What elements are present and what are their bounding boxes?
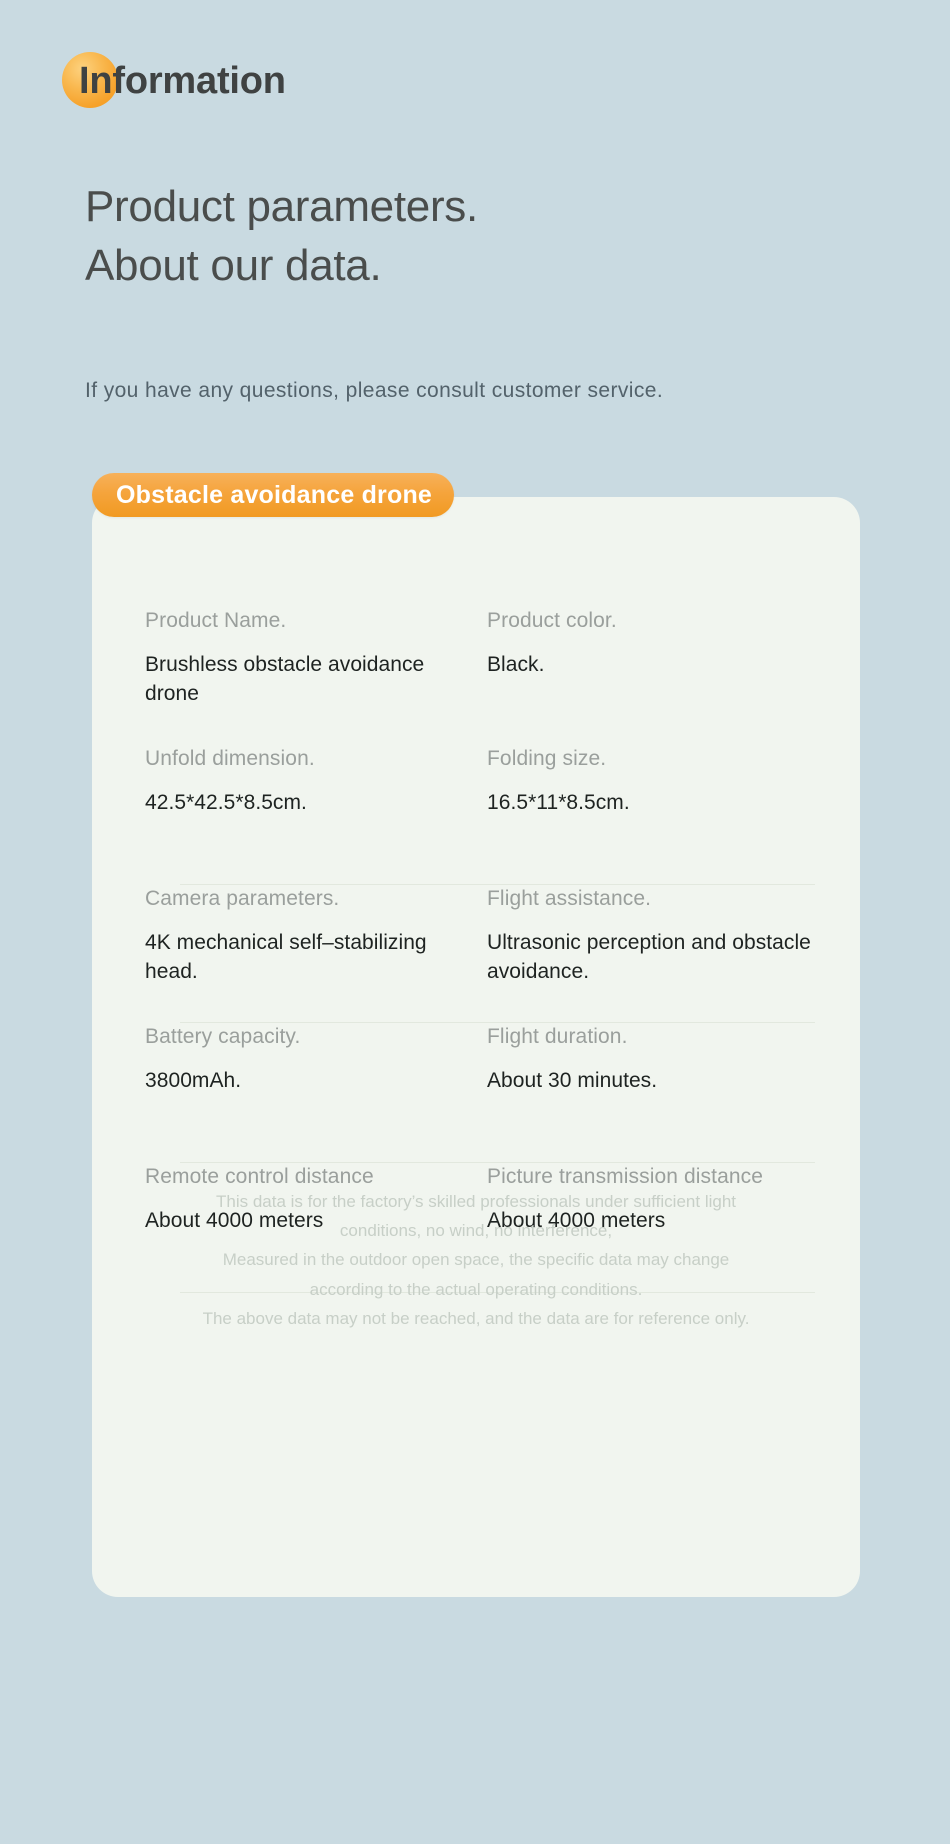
page-title-line-2: About our data. bbox=[85, 237, 478, 296]
page-title: Product parameters. About our data. bbox=[85, 178, 478, 295]
spec-label: Product color. bbox=[487, 607, 813, 635]
spec-value: 42.5*42.5*8.5cm. bbox=[145, 789, 463, 817]
page-title-line-1: Product parameters. bbox=[85, 178, 478, 237]
spec-value: 3800mAh. bbox=[145, 1067, 463, 1095]
spec-label: Flight assistance. bbox=[487, 885, 813, 913]
table-row: Unfold dimension. 42.5*42.5*8.5cm. Foldi… bbox=[127, 745, 827, 885]
disclaimer-line: The above data may not be reached, and t… bbox=[114, 1304, 838, 1333]
disclaimer-line: This data is for the factory’s skilled p… bbox=[114, 1187, 838, 1216]
page-subtitle: If you have any questions, please consul… bbox=[85, 376, 663, 405]
spec-card: Product Name. Brushless obstacle avoidan… bbox=[92, 497, 860, 1597]
product-parameters-page: Information Product parameters. About ou… bbox=[0, 0, 950, 1844]
spec-label: Folding size. bbox=[487, 745, 813, 773]
spec-value: Ultrasonic perception and obstacle avoid… bbox=[487, 929, 813, 986]
table-row: Battery capacity. 3800mAh. Flight durati… bbox=[127, 1023, 827, 1163]
spec-label: Camera parameters. bbox=[145, 885, 463, 913]
table-row: Product Name. Brushless obstacle avoidan… bbox=[127, 607, 827, 745]
disclaimer-note: This data is for the factory’s skilled p… bbox=[114, 1187, 838, 1333]
spec-value: Brushless obstacle avoidance drone bbox=[145, 651, 463, 708]
spec-category-badge: Obstacle avoidance drone bbox=[92, 473, 454, 517]
spec-cell-flight-assistance: Flight assistance. Ultrasonic perception… bbox=[477, 885, 827, 1013]
spec-label: Unfold dimension. bbox=[145, 745, 463, 773]
table-row: Camera parameters. 4K mechanical self–st… bbox=[127, 885, 827, 1023]
spec-cell-flight-duration: Flight duration. About 30 minutes. bbox=[477, 1023, 827, 1153]
spec-value: Black. bbox=[487, 651, 813, 679]
information-title: Information bbox=[79, 62, 286, 100]
spec-value: About 30 minutes. bbox=[487, 1067, 813, 1095]
spec-cell-folding-size: Folding size. 16.5*11*8.5cm. bbox=[477, 745, 827, 875]
spec-label: Flight duration. bbox=[487, 1023, 813, 1051]
spec-cell-product-name: Product Name. Brushless obstacle avoidan… bbox=[127, 607, 477, 735]
spec-label: Battery capacity. bbox=[145, 1023, 463, 1051]
spec-value: 4K mechanical self–stabilizing head. bbox=[145, 929, 463, 986]
spec-value: 16.5*11*8.5cm. bbox=[487, 789, 813, 817]
disclaimer-line: Measured in the outdoor open space, the … bbox=[114, 1245, 838, 1274]
spec-cell-unfold-dimension: Unfold dimension. 42.5*42.5*8.5cm. bbox=[127, 745, 477, 875]
disclaimer-line: conditions, no wind, no interference, bbox=[114, 1216, 838, 1245]
spec-cell-product-color: Product color. Black. bbox=[477, 607, 827, 735]
information-header: Information bbox=[62, 50, 286, 112]
spec-cell-battery-capacity: Battery capacity. 3800mAh. bbox=[127, 1023, 477, 1153]
spec-cell-camera-parameters: Camera parameters. 4K mechanical self–st… bbox=[127, 885, 477, 1013]
disclaimer-line: according to the actual operating condit… bbox=[114, 1275, 838, 1304]
spec-label: Product Name. bbox=[145, 607, 463, 635]
